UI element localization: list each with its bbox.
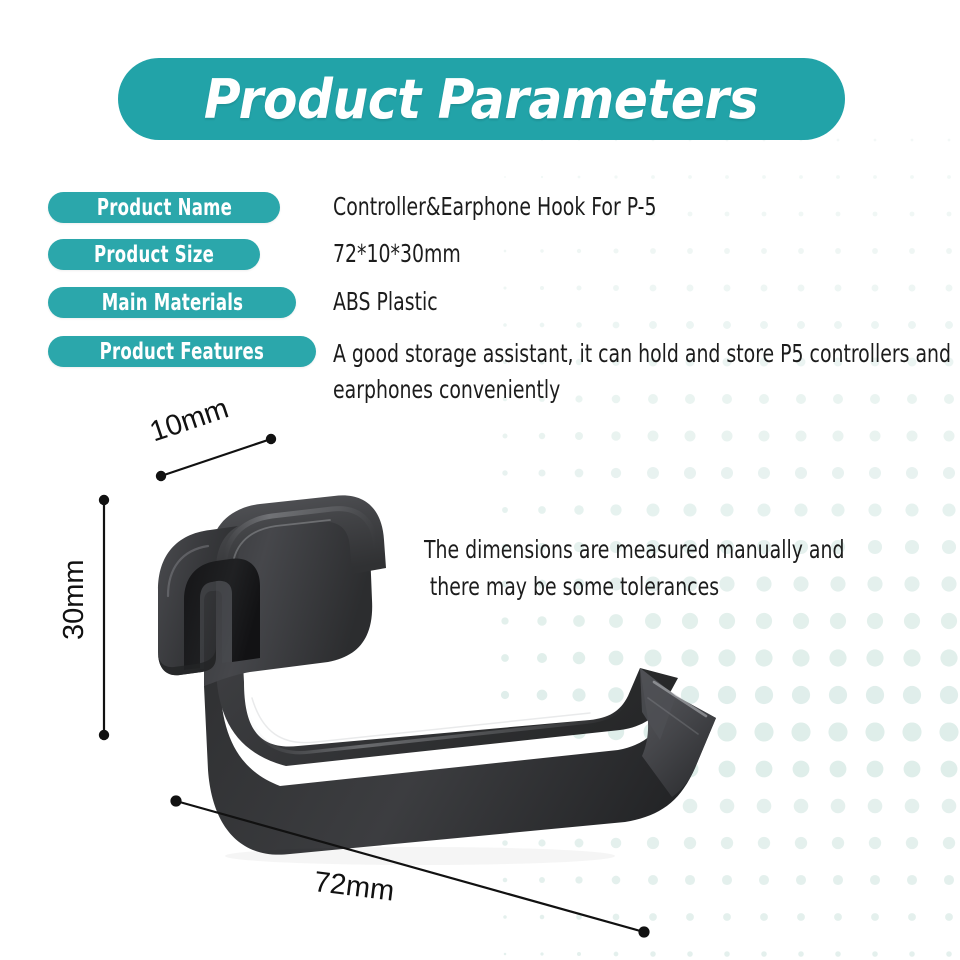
parameter-value-product-name: Controller&Earphone Hook For P-5 <box>333 192 656 221</box>
dimension-label-height: 30mm <box>58 559 91 640</box>
parameter-value-product-features: A good storage assistant, it can hold an… <box>333 336 960 407</box>
parameter-label-text: Product Features <box>100 339 265 365</box>
parameter-label-text: Product Name <box>96 195 231 221</box>
parameter-value-product-size: 72*10*30mm <box>333 239 461 268</box>
parameter-label-text: Product Size <box>94 242 214 268</box>
parameter-label-main-materials: Main Materials <box>48 287 296 318</box>
tolerance-note-line-1: The dimensions are measured manually and <box>424 535 844 564</box>
page-title: Product Parameters <box>204 68 758 131</box>
parameter-label-product-name: Product Name <box>48 192 280 223</box>
dimension-line-height <box>92 490 116 745</box>
dimension-line-length <box>165 785 655 945</box>
product-parameters-page: Product Parameters Product Name Controll… <box>0 0 960 960</box>
tolerance-note: The dimensions are measured manually and… <box>424 531 894 605</box>
parameter-label-text: Main Materials <box>101 290 243 316</box>
page-title-banner: Product Parameters <box>118 58 845 140</box>
tolerance-note-line-2: there may be some tolerances <box>424 568 894 605</box>
parameter-value-main-materials: ABS Plastic <box>333 287 438 316</box>
parameter-label-product-features: Product Features <box>48 336 316 367</box>
parameter-label-product-size: Product Size <box>48 239 260 270</box>
